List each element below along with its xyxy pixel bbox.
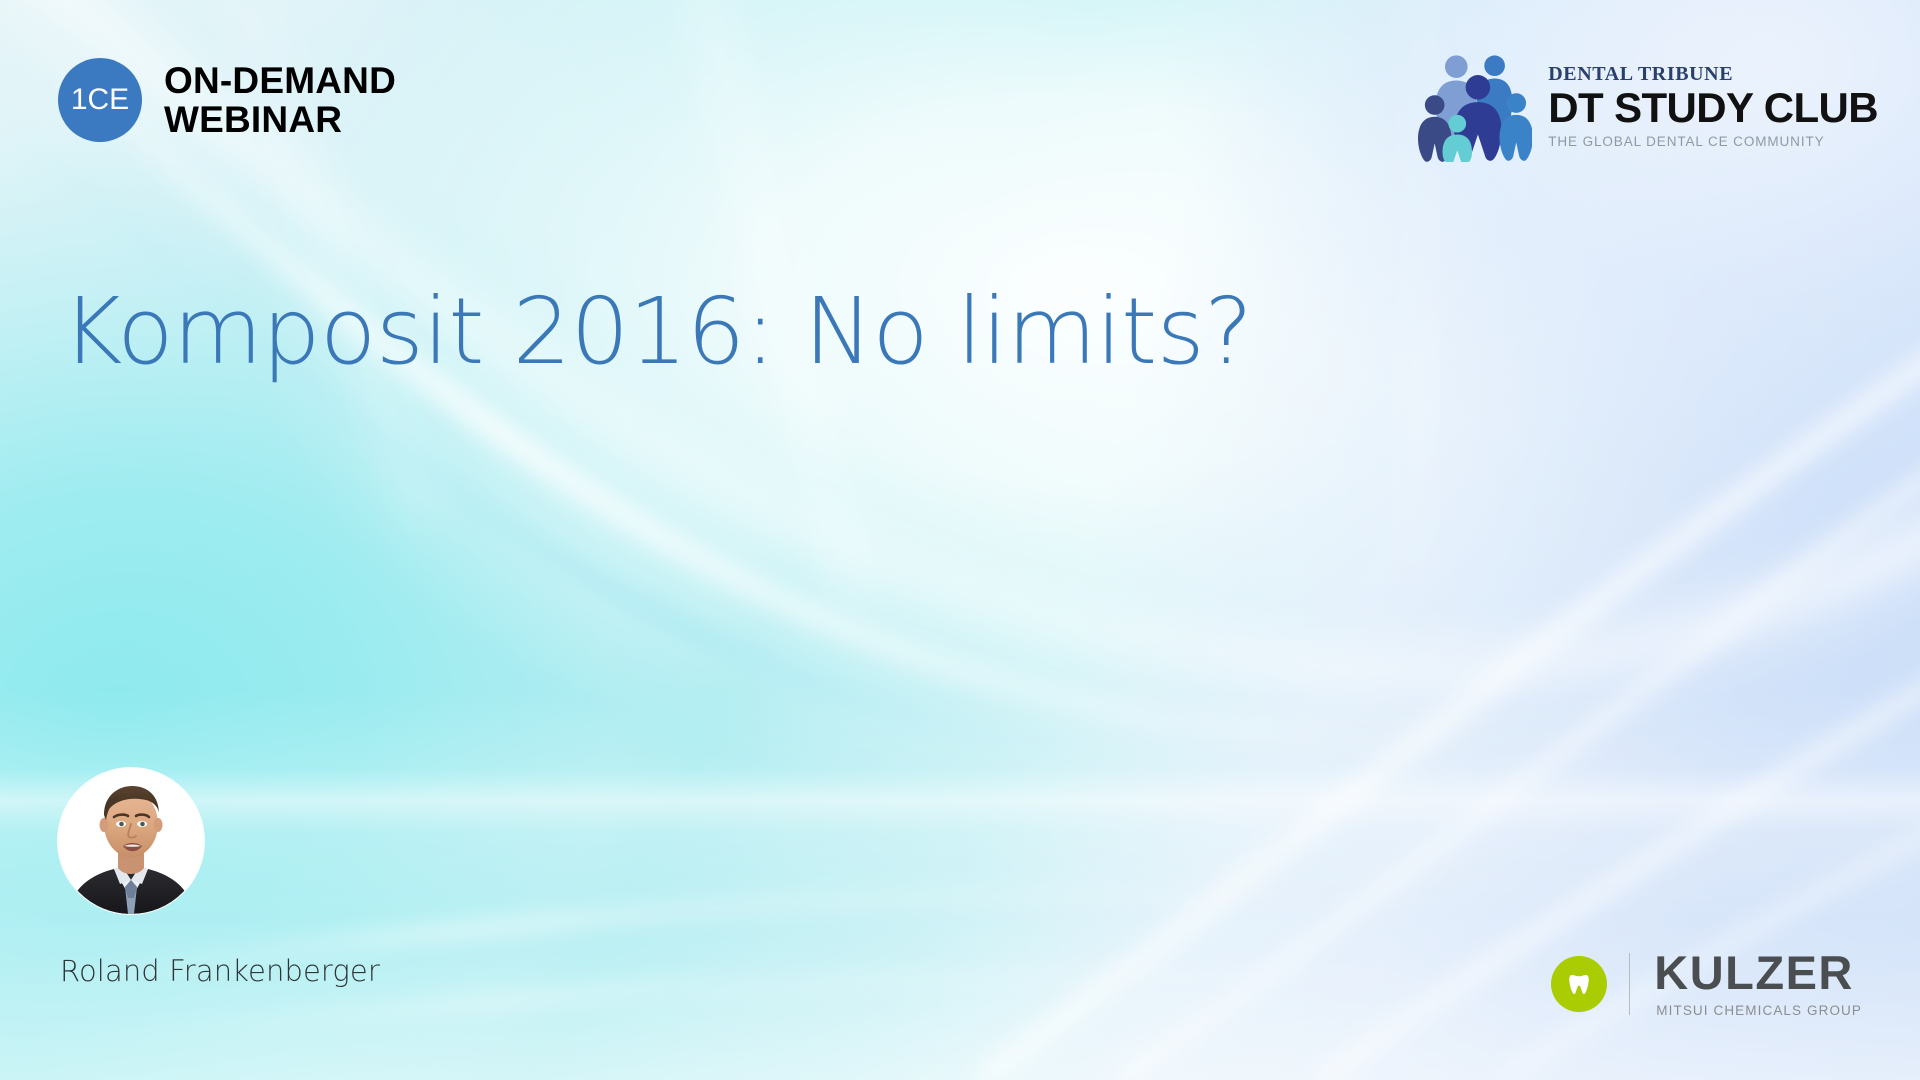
on-demand-webinar-header: 1CE ON-DEMAND WEBINAR bbox=[58, 58, 396, 142]
webinar-type-label: ON-DEMAND WEBINAR bbox=[164, 61, 396, 139]
webinar-title-slide: 1CE ON-DEMAND WEBINAR bbox=[0, 0, 1920, 1080]
kulzer-wordmark: KULZER MITSUI CHEMICALS GROUP bbox=[1654, 949, 1862, 1018]
dt-study-club-tagline: THE GLOBAL DENTAL CE COMMUNITY bbox=[1548, 134, 1878, 149]
kulzer-parent-group: MITSUI CHEMICALS GROUP bbox=[1656, 1003, 1862, 1018]
ce-credit-badge: 1CE bbox=[58, 58, 142, 142]
avatar bbox=[58, 768, 204, 914]
kulzer-logo-divider bbox=[1629, 953, 1630, 1015]
dt-people-group-icon bbox=[1414, 50, 1532, 162]
dt-study-club-name: DT STUDY CLUB bbox=[1548, 87, 1878, 129]
kulzer-logo: KULZER MITSUI CHEMICALS GROUP bbox=[1551, 949, 1862, 1018]
kulzer-tooth-icon bbox=[1551, 956, 1607, 1012]
dental-tribune-eyebrow: Dental Tribune bbox=[1548, 63, 1878, 85]
dt-study-club-wordmark: Dental Tribune DT STUDY CLUB THE GLOBAL … bbox=[1548, 63, 1878, 149]
speaker-name: Roland Frankenberger bbox=[60, 954, 380, 988]
webinar-type-label-line1: ON-DEMAND bbox=[164, 61, 396, 100]
webinar-type-label-line2: WEBINAR bbox=[164, 100, 396, 139]
kulzer-name: KULZER bbox=[1654, 949, 1862, 996]
page-title: Komposit 2016: No limits? bbox=[62, 280, 1562, 383]
ce-credit-badge-label: 1CE bbox=[71, 85, 129, 115]
speaker-block: Roland Frankenberger bbox=[58, 768, 380, 988]
dt-study-club-logo: Dental Tribune DT STUDY CLUB THE GLOBAL … bbox=[1414, 50, 1878, 162]
